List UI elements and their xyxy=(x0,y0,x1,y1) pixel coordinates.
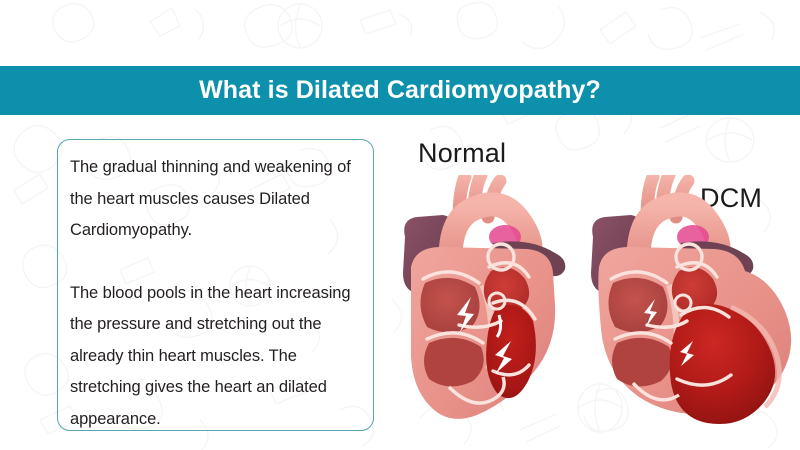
dcm-heart-cross-section-icon xyxy=(581,175,796,435)
paragraph-spacer xyxy=(70,247,359,278)
description-paragraph-2: The blood pools in the heart increasing … xyxy=(70,278,359,436)
heart-illustration-group: Normal DCM xyxy=(385,120,800,450)
description-paragraph-1: The gradual thinning and weakening of th… xyxy=(70,152,359,247)
slide-root: What is Dilated Cardiomyopathy? The grad… xyxy=(0,0,800,450)
title-banner: What is Dilated Cardiomyopathy? xyxy=(0,66,800,115)
normal-heart-cross-section-icon xyxy=(393,175,578,435)
normal-heart-label: Normal xyxy=(418,138,506,169)
page-title: What is Dilated Cardiomyopathy? xyxy=(199,76,601,105)
description-card: The gradual thinning and weakening of th… xyxy=(57,139,374,431)
